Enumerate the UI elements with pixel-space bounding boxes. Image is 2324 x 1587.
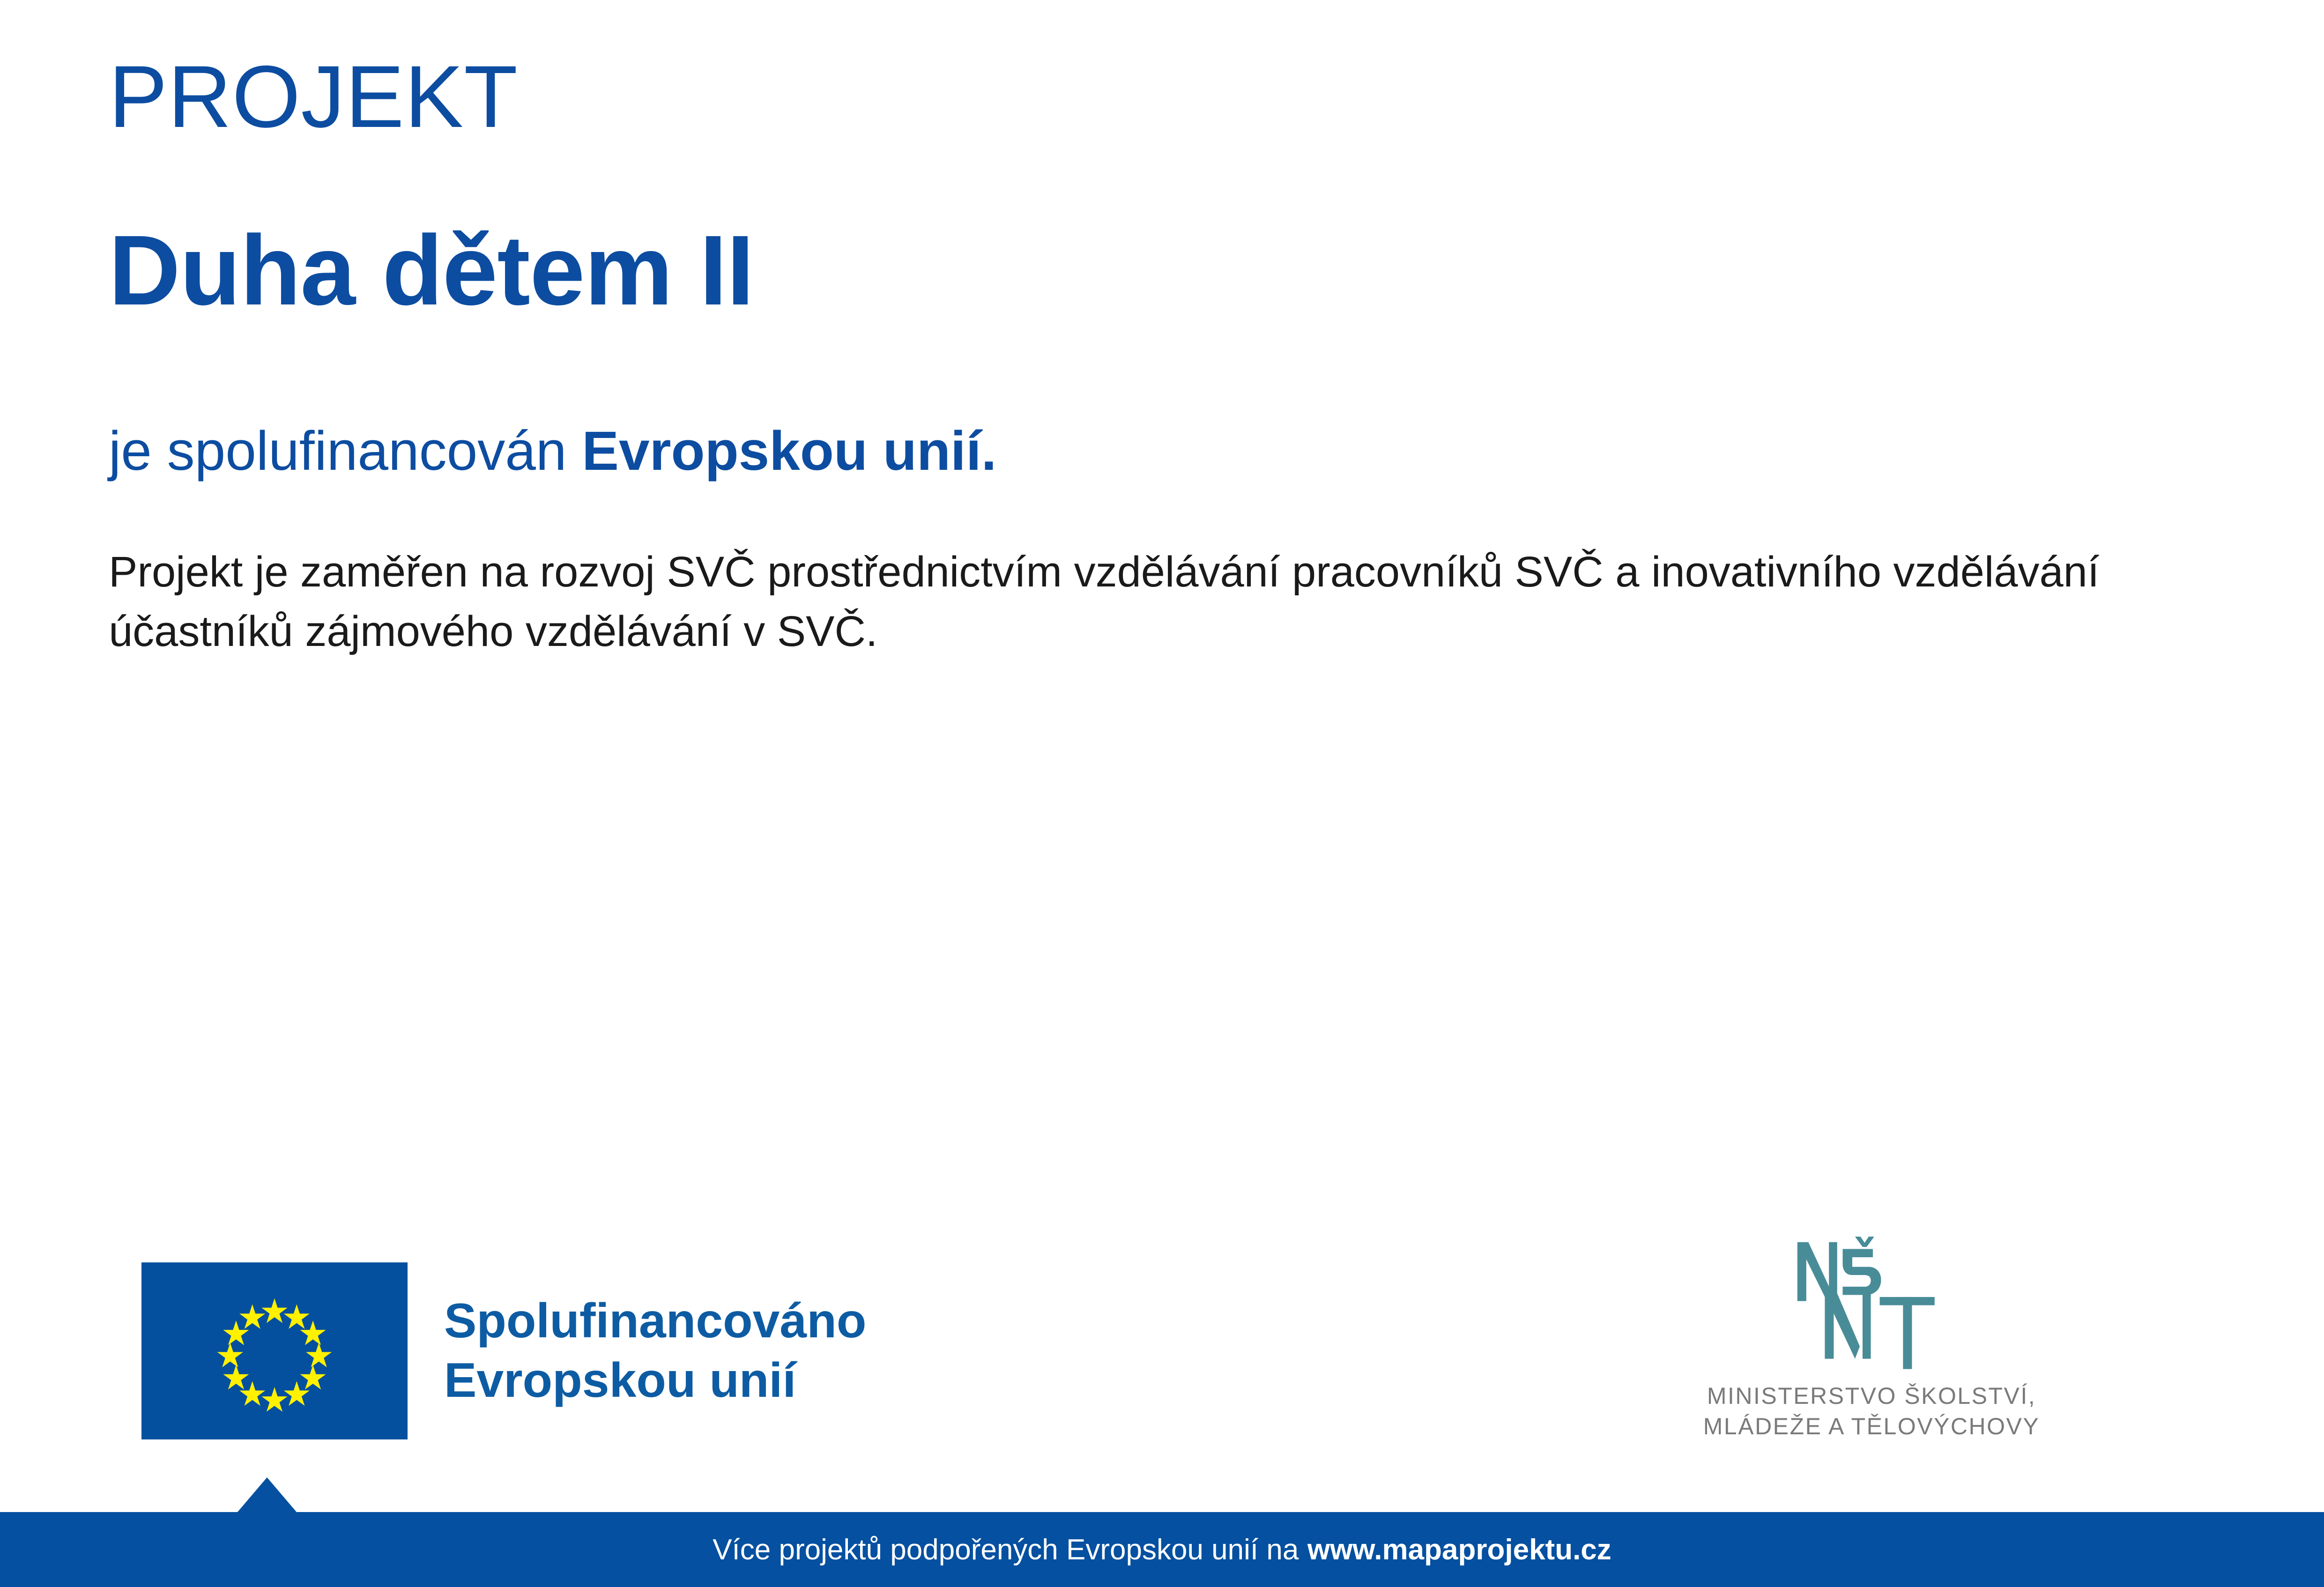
- footer-bar: Více projektů podpořených Evropskou unií…: [0, 1512, 2324, 1587]
- footer-notch-triangle: [238, 1477, 297, 1512]
- footer-url[interactable]: www.mapaprojektu.cz: [1307, 1533, 1611, 1566]
- msmt-monogram-icon: [1768, 1237, 1975, 1372]
- project-poster: PROJEKT Duha dětem II je spolufinancován…: [0, 0, 2324, 1587]
- eu-cofunding-logo: Spolufinancováno Evropskou unií: [141, 1262, 866, 1439]
- eu-flag-icon: [141, 1262, 408, 1439]
- msmt-caption-line-2: MLÁDEŽE A TĚLOVÝCHOVY: [1661, 1411, 2082, 1442]
- funding-subtitle-emphasis: Evropskou unií.: [582, 420, 996, 482]
- msmt-caption: MINISTERSTVO ŠKOLSTVÍ, MLÁDEŽE A TĚLOVÝC…: [1661, 1381, 2082, 1442]
- poster-kicker: PROJEKT: [109, 51, 518, 143]
- eu-caption-line-1: Spolufinancováno: [444, 1291, 866, 1351]
- page-title: Duha dětem II: [109, 215, 754, 325]
- footer-text: Více projektů podpořených Evropskou unií…: [0, 1512, 2324, 1587]
- footer-label: Více projektů podpořených Evropskou unií…: [713, 1533, 1299, 1566]
- eu-stars-circle-icon: [141, 1262, 408, 1440]
- project-description: Projekt je zaměřen na rozvoj SVČ prostře…: [109, 542, 2132, 661]
- eu-caption-line-2: Evropskou unií: [444, 1351, 866, 1410]
- eu-cofunding-caption: Spolufinancováno Evropskou unií: [444, 1291, 866, 1410]
- msmt-ministry-logo: MINISTERSTVO ŠKOLSTVÍ, MLÁDEŽE A TĚLOVÝC…: [1661, 1237, 2082, 1442]
- funding-subtitle: je spolufinancován Evropskou unií.: [109, 417, 996, 486]
- msmt-caption-line-1: MINISTERSTVO ŠKOLSTVÍ,: [1661, 1381, 2082, 1411]
- funding-subtitle-prefix: je spolufinancován: [109, 420, 582, 482]
